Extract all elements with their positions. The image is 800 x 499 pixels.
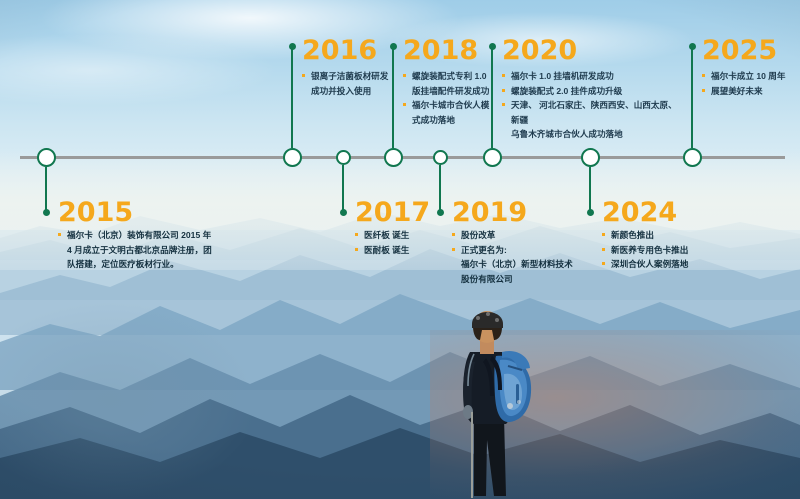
event-2017: 2017 医纤板 诞生 医耐板 诞生 xyxy=(355,198,445,257)
timeline-stem-cap-2024 xyxy=(587,209,594,216)
bullet-item: 福尔卡（北京）装饰有限公司 2015 年 4 月成立于文明古都北京品牌注册，团 … xyxy=(58,228,238,272)
bullet-item: 正式更名为: 福尔卡（北京）新型材料技术 股份有限公司 xyxy=(452,243,592,287)
bullet-item: 福尔卡 1.0 挂墙机研发成功 xyxy=(502,69,684,84)
event-bullets-2015: 福尔卡（北京）装饰有限公司 2015 年 4 月成立于文明古都北京品牌注册，团 … xyxy=(58,228,238,272)
timeline-node-2019[interactable] xyxy=(433,150,448,165)
bullet-item: 新医养专用色卡推出 xyxy=(602,243,732,258)
event-2016: 2016 银离子洁菌板材研发 成功并投入使用 xyxy=(302,36,394,98)
event-year-2017: 2017 xyxy=(355,198,445,228)
timeline-node-2017[interactable] xyxy=(336,150,351,165)
event-bullets-2016: 银离子洁菌板材研发 成功并投入使用 xyxy=(302,69,394,98)
event-2025: 2025 福尔卡成立 10 周年 展望美好未来 xyxy=(702,36,798,98)
bullet-item: 新颜色推出 xyxy=(602,228,732,243)
hiker-figure xyxy=(430,300,550,499)
event-year-2025: 2025 xyxy=(702,36,798,66)
event-year-2018: 2018 xyxy=(403,36,498,66)
bullet-item: 螺旋装配式专利 1.0 版挂墙配件研发成功 xyxy=(403,69,498,98)
timeline-node-2015[interactable] xyxy=(37,148,56,167)
timeline-stem-2017 xyxy=(342,165,344,212)
timeline-stem-2016 xyxy=(291,45,293,148)
event-2015: 2015 福尔卡（北京）装饰有限公司 2015 年 4 月成立于文明古都北京品牌… xyxy=(58,198,238,272)
bullet-item: 股份改革 xyxy=(452,228,592,243)
event-bullets-2024: 新颜色推出 新医养专用色卡推出 深圳合伙人案例落地 xyxy=(602,228,732,272)
bullet-item: 福尔卡成立 10 周年 xyxy=(702,69,798,84)
bullet-item: 福尔卡城市合伙人模 式成功落地 xyxy=(403,98,498,127)
event-year-2024: 2024 xyxy=(602,198,732,228)
bullet-item: 深圳合伙人案例落地 xyxy=(602,257,732,272)
event-year-2019: 2019 xyxy=(452,198,592,228)
event-bullets-2019: 股份改革 正式更名为: 福尔卡（北京）新型材料技术 股份有限公司 xyxy=(452,228,592,286)
timeline-stem-2018 xyxy=(392,45,394,148)
event-2020: 2020 福尔卡 1.0 挂墙机研发成功 螺旋装配式 2.0 挂件成功升级 天津… xyxy=(502,36,684,142)
timeline-stem-cap-2025 xyxy=(689,43,696,50)
event-bullets-2017: 医纤板 诞生 医耐板 诞生 xyxy=(355,228,445,257)
event-2024: 2024 新颜色推出 新医养专用色卡推出 深圳合伙人案例落地 xyxy=(602,198,732,272)
bullet-item: 天津、 河北石家庄、陕西西安、山西太原、新疆 乌鲁木齐城市合伙人成功落地 xyxy=(502,98,684,142)
bullet-item: 展望美好未来 xyxy=(702,84,798,99)
timeline-stem-2024 xyxy=(589,167,591,212)
event-2019: 2019 股份改革 正式更名为: 福尔卡（北京）新型材料技术 股份有限公司 xyxy=(452,198,592,286)
timeline-stem-2019 xyxy=(439,165,441,212)
event-2018: 2018 螺旋装配式专利 1.0 版挂墙配件研发成功 福尔卡城市合伙人模 式成功… xyxy=(403,36,498,127)
timeline-stem-cap-2019 xyxy=(437,209,444,216)
event-year-2015: 2015 xyxy=(58,198,238,228)
bullet-item: 医耐板 诞生 xyxy=(355,243,445,258)
event-bullets-2018: 螺旋装配式专利 1.0 版挂墙配件研发成功 福尔卡城市合伙人模 式成功落地 xyxy=(403,69,498,127)
timeline-node-2018[interactable] xyxy=(384,148,403,167)
timeline-node-2016[interactable] xyxy=(283,148,302,167)
timeline-stem-cap-2016 xyxy=(289,43,296,50)
event-bullets-2020: 福尔卡 1.0 挂墙机研发成功 螺旋装配式 2.0 挂件成功升级 天津、 河北石… xyxy=(502,69,684,142)
timeline-stem-2015 xyxy=(45,167,47,212)
timeline-infographic: 2015 福尔卡（北京）装饰有限公司 2015 年 4 月成立于文明古都北京品牌… xyxy=(0,0,800,499)
event-year-2020: 2020 xyxy=(502,36,684,66)
timeline-stem-2025 xyxy=(691,45,693,148)
bullet-item: 银离子洁菌板材研发 成功并投入使用 xyxy=(302,69,394,98)
timeline-node-2025[interactable] xyxy=(683,148,702,167)
timeline-axis xyxy=(20,156,785,159)
timeline-stem-cap-2020 xyxy=(489,43,496,50)
timeline-stem-cap-2015 xyxy=(43,209,50,216)
timeline-node-2024[interactable] xyxy=(581,148,600,167)
bullet-item: 螺旋装配式 2.0 挂件成功升级 xyxy=(502,84,684,99)
event-bullets-2025: 福尔卡成立 10 周年 展望美好未来 xyxy=(702,69,798,98)
timeline-stem-2020 xyxy=(491,45,493,148)
event-year-2016: 2016 xyxy=(302,36,394,66)
timeline-stem-cap-2018 xyxy=(390,43,397,50)
bullet-item: 医纤板 诞生 xyxy=(355,228,445,243)
timeline-stem-cap-2017 xyxy=(340,209,347,216)
timeline-node-2020[interactable] xyxy=(483,148,502,167)
